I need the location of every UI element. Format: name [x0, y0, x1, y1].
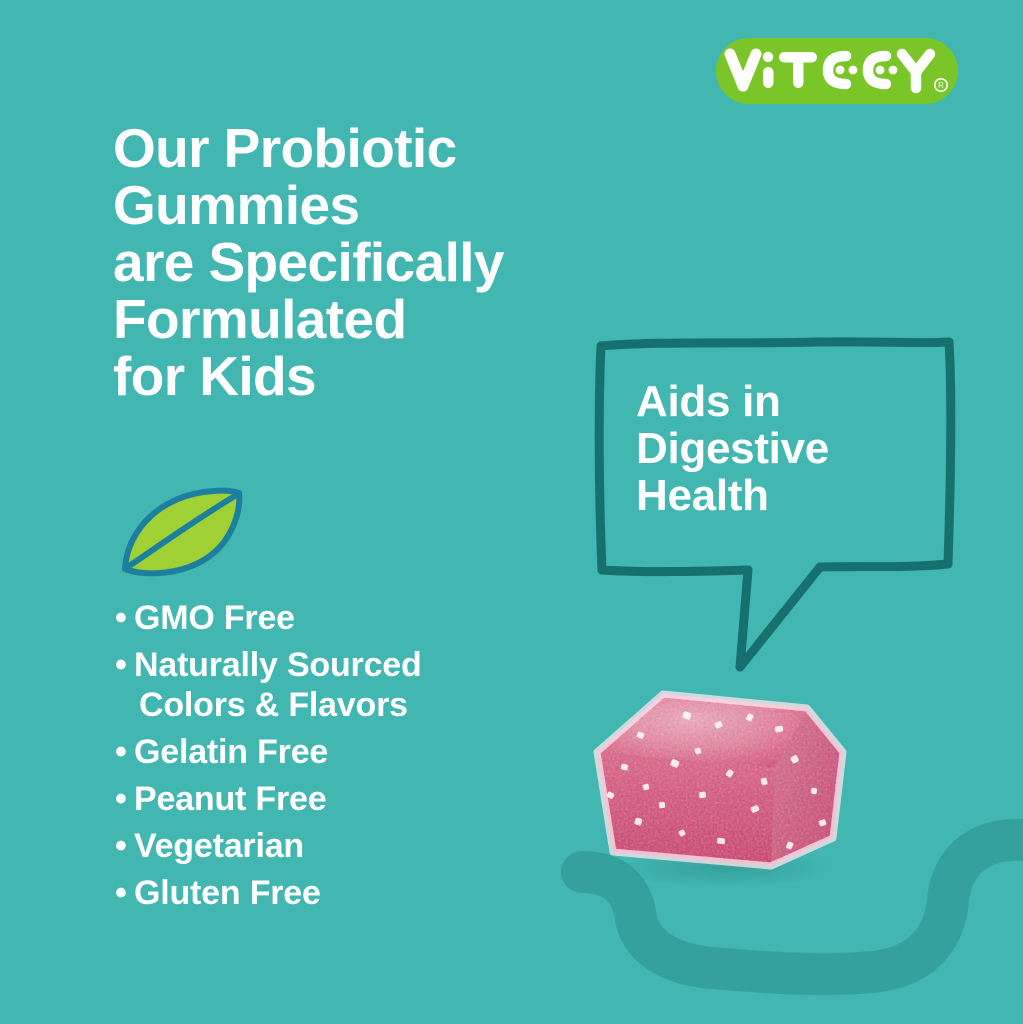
callout-line-3: Health — [636, 472, 936, 519]
headline-line-2: Gummies — [113, 177, 713, 234]
promo-poster: R Our Probiotic Gummies are Specifically… — [0, 0, 1023, 1024]
bullet-icon: • — [115, 779, 127, 819]
list-item-label: Naturally Sourced — [134, 646, 422, 684]
gummy-product-image — [575, 660, 865, 890]
viteey-logo[interactable]: R — [716, 38, 958, 104]
list-item: • Naturally Sourced Colors & Flavors — [113, 645, 543, 725]
list-item: • Vegetarian — [113, 826, 543, 866]
svg-text:R: R — [938, 81, 944, 90]
list-item: • Peanut Free — [113, 779, 543, 819]
callout-line-1: Aids in — [636, 378, 936, 425]
viteey-wordmark-icon: R — [716, 38, 958, 104]
headline-line-3: are Specifically — [113, 234, 713, 291]
callout-line-2: Digestive — [636, 425, 936, 472]
bullet-icon: • — [115, 598, 127, 638]
list-item: • GMO Free — [113, 598, 543, 638]
list-item: • Gelatin Free — [113, 732, 543, 772]
bullet-icon: • — [115, 826, 127, 866]
callout-text: Aids in Digestive Health — [636, 378, 936, 519]
gummy-cube-icon — [575, 660, 865, 890]
list-item-label: Vegetarian — [134, 827, 304, 865]
leaf-icon — [118, 483, 250, 583]
list-item: • Gluten Free — [113, 873, 543, 913]
bullet-icon: • — [115, 732, 127, 772]
list-item-label: Peanut Free — [134, 780, 326, 818]
bullet-icon: • — [115, 645, 127, 685]
headline-line-1: Our Probiotic — [113, 120, 713, 177]
list-item-label: GMO Free — [134, 599, 295, 637]
list-item-label: Gluten Free — [134, 874, 321, 912]
list-item-label-wrap: Colors & Flavors — [134, 685, 543, 725]
list-item-label: Gelatin Free — [134, 733, 328, 771]
bullet-icon: • — [115, 873, 127, 913]
feature-list: • GMO Free • Naturally Sourced Colors & … — [113, 598, 543, 920]
